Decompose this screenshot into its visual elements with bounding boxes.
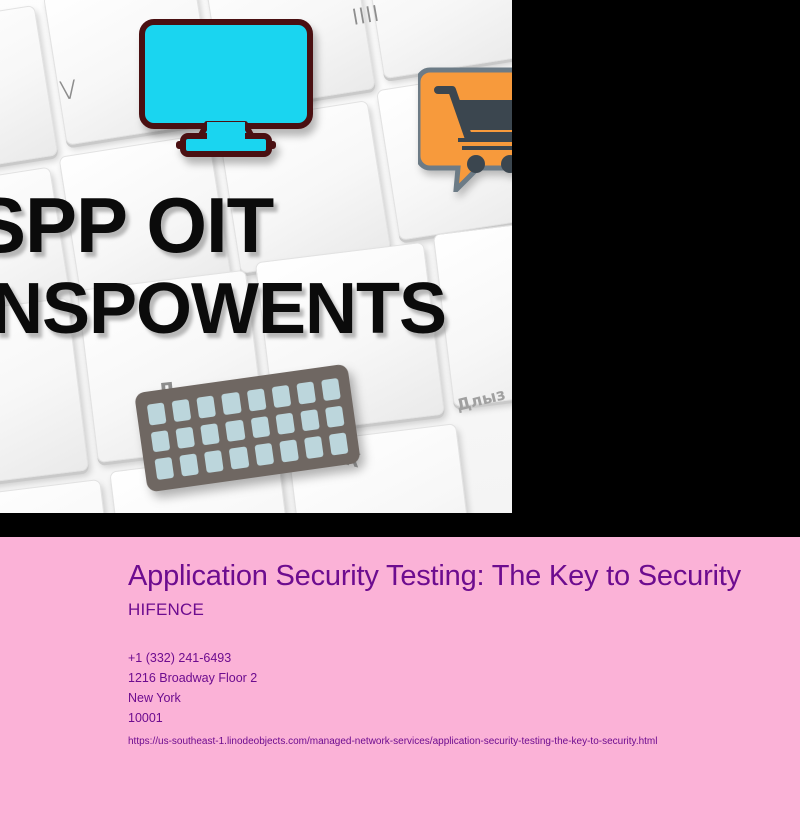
keypad-key xyxy=(172,399,192,422)
source-url-link[interactable]: https://us-southeast-1.linodeobjects.com… xyxy=(128,735,760,749)
keypad-key xyxy=(250,416,270,439)
keyboard-key xyxy=(0,479,121,513)
black-fill-right xyxy=(512,0,800,513)
keypad-key xyxy=(179,454,199,477)
keypad-key xyxy=(197,395,217,418)
keypad-key xyxy=(151,430,171,453)
contact-street: 1216 Broadway Floor 2 xyxy=(128,668,760,688)
contact-city: New York xyxy=(128,688,760,708)
keypad-key xyxy=(147,402,167,425)
keypad-key xyxy=(329,433,349,456)
keypad-key xyxy=(325,405,345,428)
page-root: v |||| Д Ж Длыз xyxy=(0,0,800,840)
keypad-key xyxy=(229,447,249,470)
info-panel: Application Security Testing: The Key to… xyxy=(0,537,800,840)
hero-image: v |||| Д Ж Длыз xyxy=(0,0,512,513)
monitor-icon xyxy=(137,18,315,158)
keypad-key xyxy=(221,392,241,415)
contact-zip: 10001 xyxy=(128,708,760,728)
brand-name: HIFENCE xyxy=(128,600,760,620)
keypad-key xyxy=(275,412,295,435)
info-panel-inner: Application Security Testing: The Key to… xyxy=(0,537,800,749)
keypad-key xyxy=(254,443,274,466)
keypad-key xyxy=(204,450,224,473)
keypad-key xyxy=(200,423,220,446)
page-title: Application Security Testing: The Key to… xyxy=(128,561,760,592)
keypad-key xyxy=(300,409,320,432)
hero-headline-line-1: SPP OIT xyxy=(0,180,273,271)
contact-block: +1 (332) 241-6493 1216 Broadway Floor 2 … xyxy=(128,648,760,728)
keypad-key xyxy=(176,426,196,449)
keypad-key xyxy=(271,385,291,408)
keypad-key xyxy=(154,457,174,480)
keypad-key xyxy=(225,419,245,442)
black-fill-band xyxy=(0,513,800,537)
shopping-cart-bubble-icon xyxy=(418,62,512,192)
keypad-key xyxy=(279,440,299,463)
keypad-key xyxy=(246,388,266,411)
keypad-key xyxy=(296,381,316,404)
contact-phone: +1 (332) 241-6493 xyxy=(128,648,760,668)
keypad-key xyxy=(304,436,324,459)
hero-headline-line-2: INSPOWENTS xyxy=(0,268,446,350)
keypad-key xyxy=(321,378,341,401)
